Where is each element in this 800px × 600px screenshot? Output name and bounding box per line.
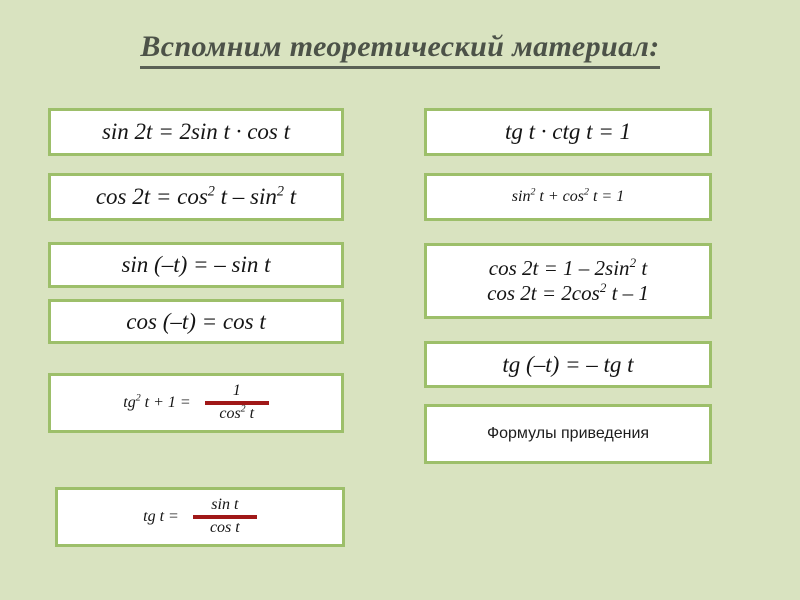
formula-part: cos 2t = cos [96,184,208,209]
formula-part: cos 2t = 1 – 2sin [489,256,630,280]
formula-text: tg t = sin t cos t [143,497,257,537]
fraction: 1 cos2 t [205,383,269,423]
formula-part: t – sin [215,184,277,209]
formula-box-tg-squared-identity[interactable]: tg2 t + 1 = 1 cos2 t [48,373,344,433]
formula-part: t [284,184,296,209]
formula-part: t – 1 [606,281,649,305]
formula-text: tg t · ctg t = 1 [505,118,631,145]
exponent: 2 [208,184,215,200]
formula-text: sin2 t + cos2 t = 1 [512,188,624,207]
fraction: sin t cos t [193,497,257,537]
formula-part: t [636,256,647,280]
label-text: Формулы приведения [487,425,649,444]
fraction-numerator: sin t [203,497,246,515]
exponent: 2 [277,184,284,200]
fraction-left-side: tg t = [143,508,193,527]
formula-text: sin (–t) = – sin t [121,251,270,278]
formula-box-sin-double-angle[interactable]: sin 2t = 2sin t · cos t [48,108,344,156]
formula-part: t + cos [535,188,584,205]
formula-text: sin 2t = 2sin t · cos t [102,118,290,145]
fraction-left-side: tg2 t + 1 = [123,394,204,413]
formula-part: t + 1 = [141,394,191,411]
formula-box-tangent-definition[interactable]: tg t = sin t cos t [55,487,345,547]
formula-text: tg2 t + 1 = 1 cos2 t [123,383,268,423]
formula-part: tg [123,394,135,411]
fraction-denominator: cos2 t [211,405,262,423]
label-box-reduction-formulas[interactable]: Формулы приведения [424,404,712,464]
formula-box-cos-double-angle[interactable]: cos 2t = cos2 t – sin2 t [48,173,344,221]
formula-box-pythagorean-identity[interactable]: sin2 t + cos2 t = 1 [424,173,712,221]
formula-part: sin [512,188,531,205]
formula-box-cos-even[interactable]: cos (–t) = cos t [48,299,344,344]
formula-box-sin-odd[interactable]: sin (–t) = – sin t [48,242,344,288]
formula-part: t = 1 [589,188,624,205]
fraction-denominator: cos t [202,519,248,537]
formula-part: cos [219,405,240,422]
slide-canvas: Вспомним теоретический материал: sin 2t … [0,0,800,600]
page-title: Вспомним теоретический материал: [0,30,800,69]
formula-part: cos 2t = 2cos [487,281,600,305]
formula-text: cos 2t = 1 – 2sin2 t cos 2t = 2cos2 t – … [487,256,649,306]
formula-box-cos-double-angle-variants[interactable]: cos 2t = 1 – 2sin2 t cos 2t = 2cos2 t – … [424,243,712,319]
formula-line-1: cos 2t = 1 – 2sin2 t [487,256,649,281]
formula-text: cos (–t) = cos t [126,308,265,335]
formula-box-tg-odd[interactable]: tg (–t) = – tg t [424,341,712,388]
formula-line-2: cos 2t = 2cos2 t – 1 [487,281,649,306]
fraction-numerator: 1 [225,383,249,401]
formula-part: t [246,405,254,422]
page-title-text: Вспомним теоретический материал: [140,30,659,69]
formula-text: cos 2t = cos2 t – sin2 t [96,183,296,210]
formula-box-tg-ctg-product[interactable]: tg t · ctg t = 1 [424,108,712,156]
formula-text: tg (–t) = – tg t [502,351,633,378]
